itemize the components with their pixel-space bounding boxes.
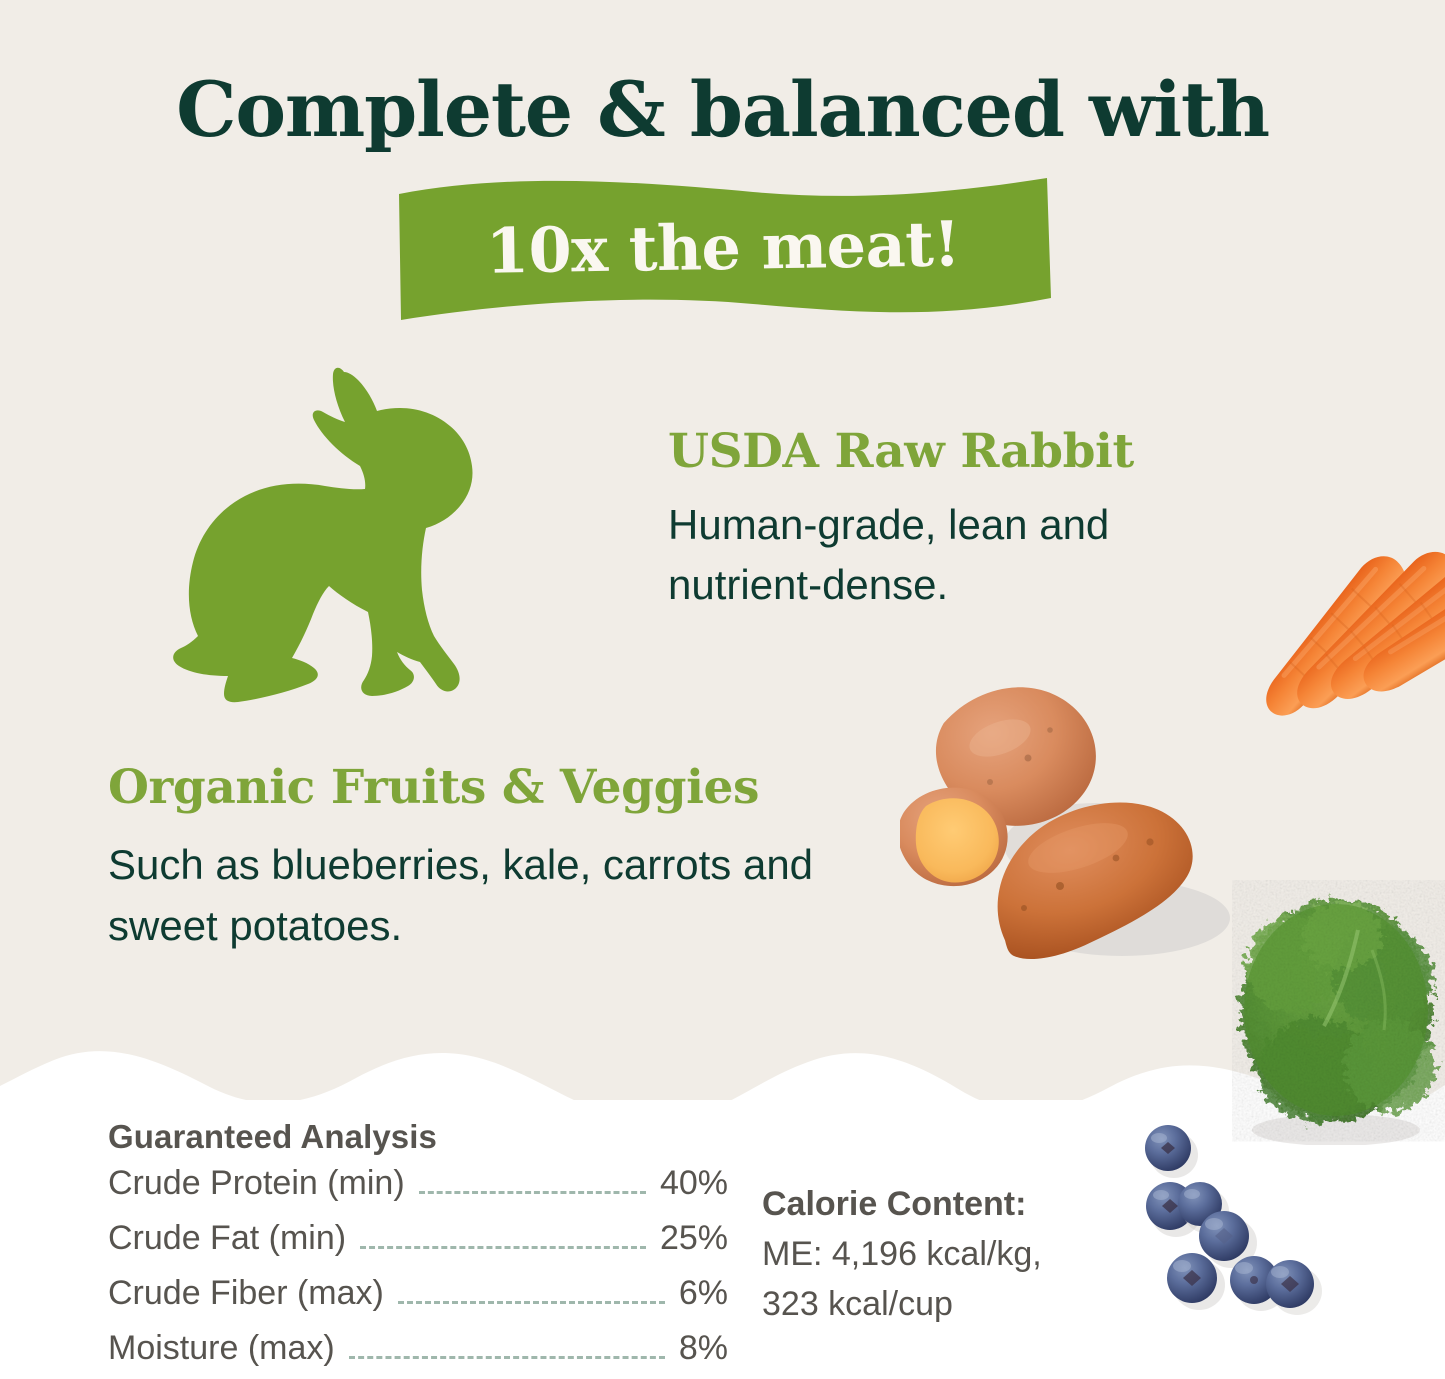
calorie-content-line1: ME: 4,196 kcal/kg, bbox=[762, 1230, 1122, 1280]
analysis-value: 25% bbox=[660, 1219, 728, 1258]
guaranteed-analysis: Guaranteed Analysis Crude Protein (min) … bbox=[108, 1118, 728, 1379]
dotted-leader bbox=[398, 1301, 665, 1304]
banner-label: 10x the meat! bbox=[392, 165, 1054, 330]
analysis-value: 6% bbox=[679, 1274, 728, 1313]
calorie-content-line2: 323 kcal/cup bbox=[762, 1280, 1122, 1330]
calorie-content: Calorie Content: ME: 4,196 kcal/kg, 323 … bbox=[762, 1180, 1122, 1330]
blueberry-photo bbox=[1128, 1118, 1338, 1318]
dotted-leader bbox=[419, 1191, 646, 1194]
kale-photo bbox=[1232, 880, 1445, 1145]
analysis-label: Moisture (max) bbox=[108, 1329, 335, 1368]
dotted-leader bbox=[360, 1246, 646, 1249]
analysis-label: Crude Protein (min) bbox=[108, 1164, 405, 1203]
highlight-banner: 10x the meat! bbox=[393, 170, 1053, 325]
product-info-panel: Complete & balanced with 10x the meat! bbox=[0, 0, 1445, 1379]
rabbit-feature-block: USDA Raw Rabbit Human-grade, lean and nu… bbox=[668, 424, 1228, 615]
veggies-feature-block: Organic Fruits & Veggies Such as blueber… bbox=[108, 760, 888, 957]
page-title: Complete & balanced with bbox=[0, 72, 1445, 148]
table-row: Crude Fiber (max) 6% bbox=[108, 1274, 728, 1329]
table-row: Crude Fat (min) 25% bbox=[108, 1219, 728, 1274]
rabbit-feature-title: USDA Raw Rabbit bbox=[668, 424, 1228, 479]
table-row: Crude Protein (min) 40% bbox=[108, 1164, 728, 1219]
analysis-label: Crude Fiber (max) bbox=[108, 1274, 384, 1313]
rabbit-feature-body: Human-grade, lean and nutrient-dense. bbox=[668, 495, 1228, 614]
veggies-feature-body: Such as blueberries, kale, carrots and s… bbox=[108, 835, 888, 957]
carrot-photo bbox=[1262, 545, 1445, 845]
analysis-value: 8% bbox=[679, 1329, 728, 1368]
guaranteed-analysis-title: Guaranteed Analysis bbox=[108, 1118, 728, 1156]
veggies-feature-title: Organic Fruits & Veggies bbox=[108, 760, 888, 815]
calorie-content-heading: Calorie Content: bbox=[762, 1180, 1122, 1230]
rabbit-silhouette-icon bbox=[168, 358, 528, 703]
table-row: Moisture (max) 8% bbox=[108, 1329, 728, 1379]
analysis-value: 40% bbox=[660, 1164, 728, 1203]
dotted-leader bbox=[349, 1356, 665, 1359]
analysis-label: Crude Fat (min) bbox=[108, 1219, 346, 1258]
